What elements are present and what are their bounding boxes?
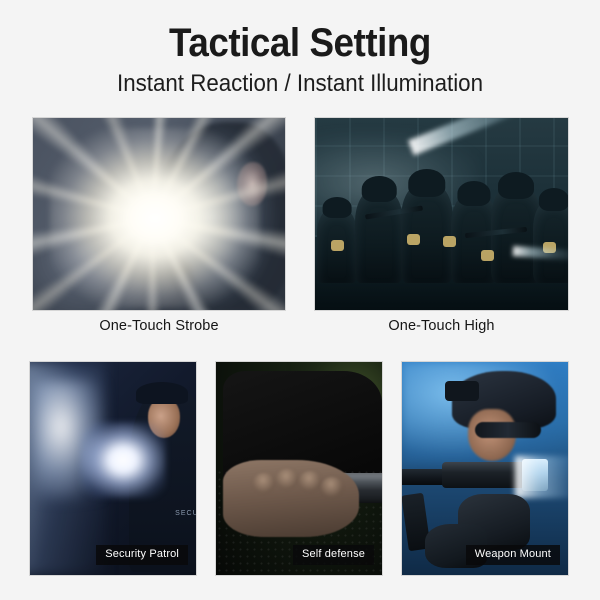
soldier-goggles [475,422,541,438]
security-officer-cap [136,382,188,404]
soldier-glove [407,234,420,245]
hand-knuckle [276,469,298,489]
security-scene: SECU [30,362,196,575]
strobe-light-core [50,128,260,308]
image-panel-security-patrol: SECU Security Patrol [30,362,196,575]
header: Tactical Setting Instant Reaction / Inst… [0,0,600,97]
weapon-light-beam [515,456,568,498]
weaponmount-scene [402,362,568,575]
caption-one-touch-high: One-Touch High [315,318,568,334]
image-panel-self-defense: Self defense [216,362,382,575]
strobe-scene [33,118,285,310]
soldier-helmet [408,169,445,196]
security-flashlight-flare [80,422,166,498]
hand-knuckle [299,471,321,491]
soldier-helmet [323,197,352,218]
image-panel-one-touch-strobe [33,118,285,310]
hand-knuckle [253,473,275,493]
soldier-glove [443,236,456,247]
soldier-helmet [539,188,568,211]
soldier-helmet [362,176,397,202]
product-infographic: Tactical Setting Instant Reaction / Inst… [0,0,600,600]
night-vision-mount-icon [445,381,479,401]
hand-knuckle [321,477,343,497]
image-panel-weapon-mount: Weapon Mount [402,362,568,575]
page-subtitle: Instant Reaction / Instant Illumination [21,64,579,97]
badge-self-defense: Self defense [293,545,374,565]
security-uniform-logo: SECU [175,510,196,517]
page-title: Tactical Setting [24,0,576,64]
soldier-glove [481,250,494,261]
high-scene [315,118,568,310]
image-panel-one-touch-high [315,118,568,310]
caption-one-touch-strobe: One-Touch Strobe [33,318,285,334]
soldier-helmet [498,172,534,199]
selfdefense-scene [216,362,382,575]
soldier-figure [355,191,403,283]
soldier-glove [331,240,344,251]
badge-security-patrol: Security Patrol [96,545,188,565]
soldier-helmet [457,181,490,206]
badge-weapon-mount: Weapon Mount [466,545,560,565]
